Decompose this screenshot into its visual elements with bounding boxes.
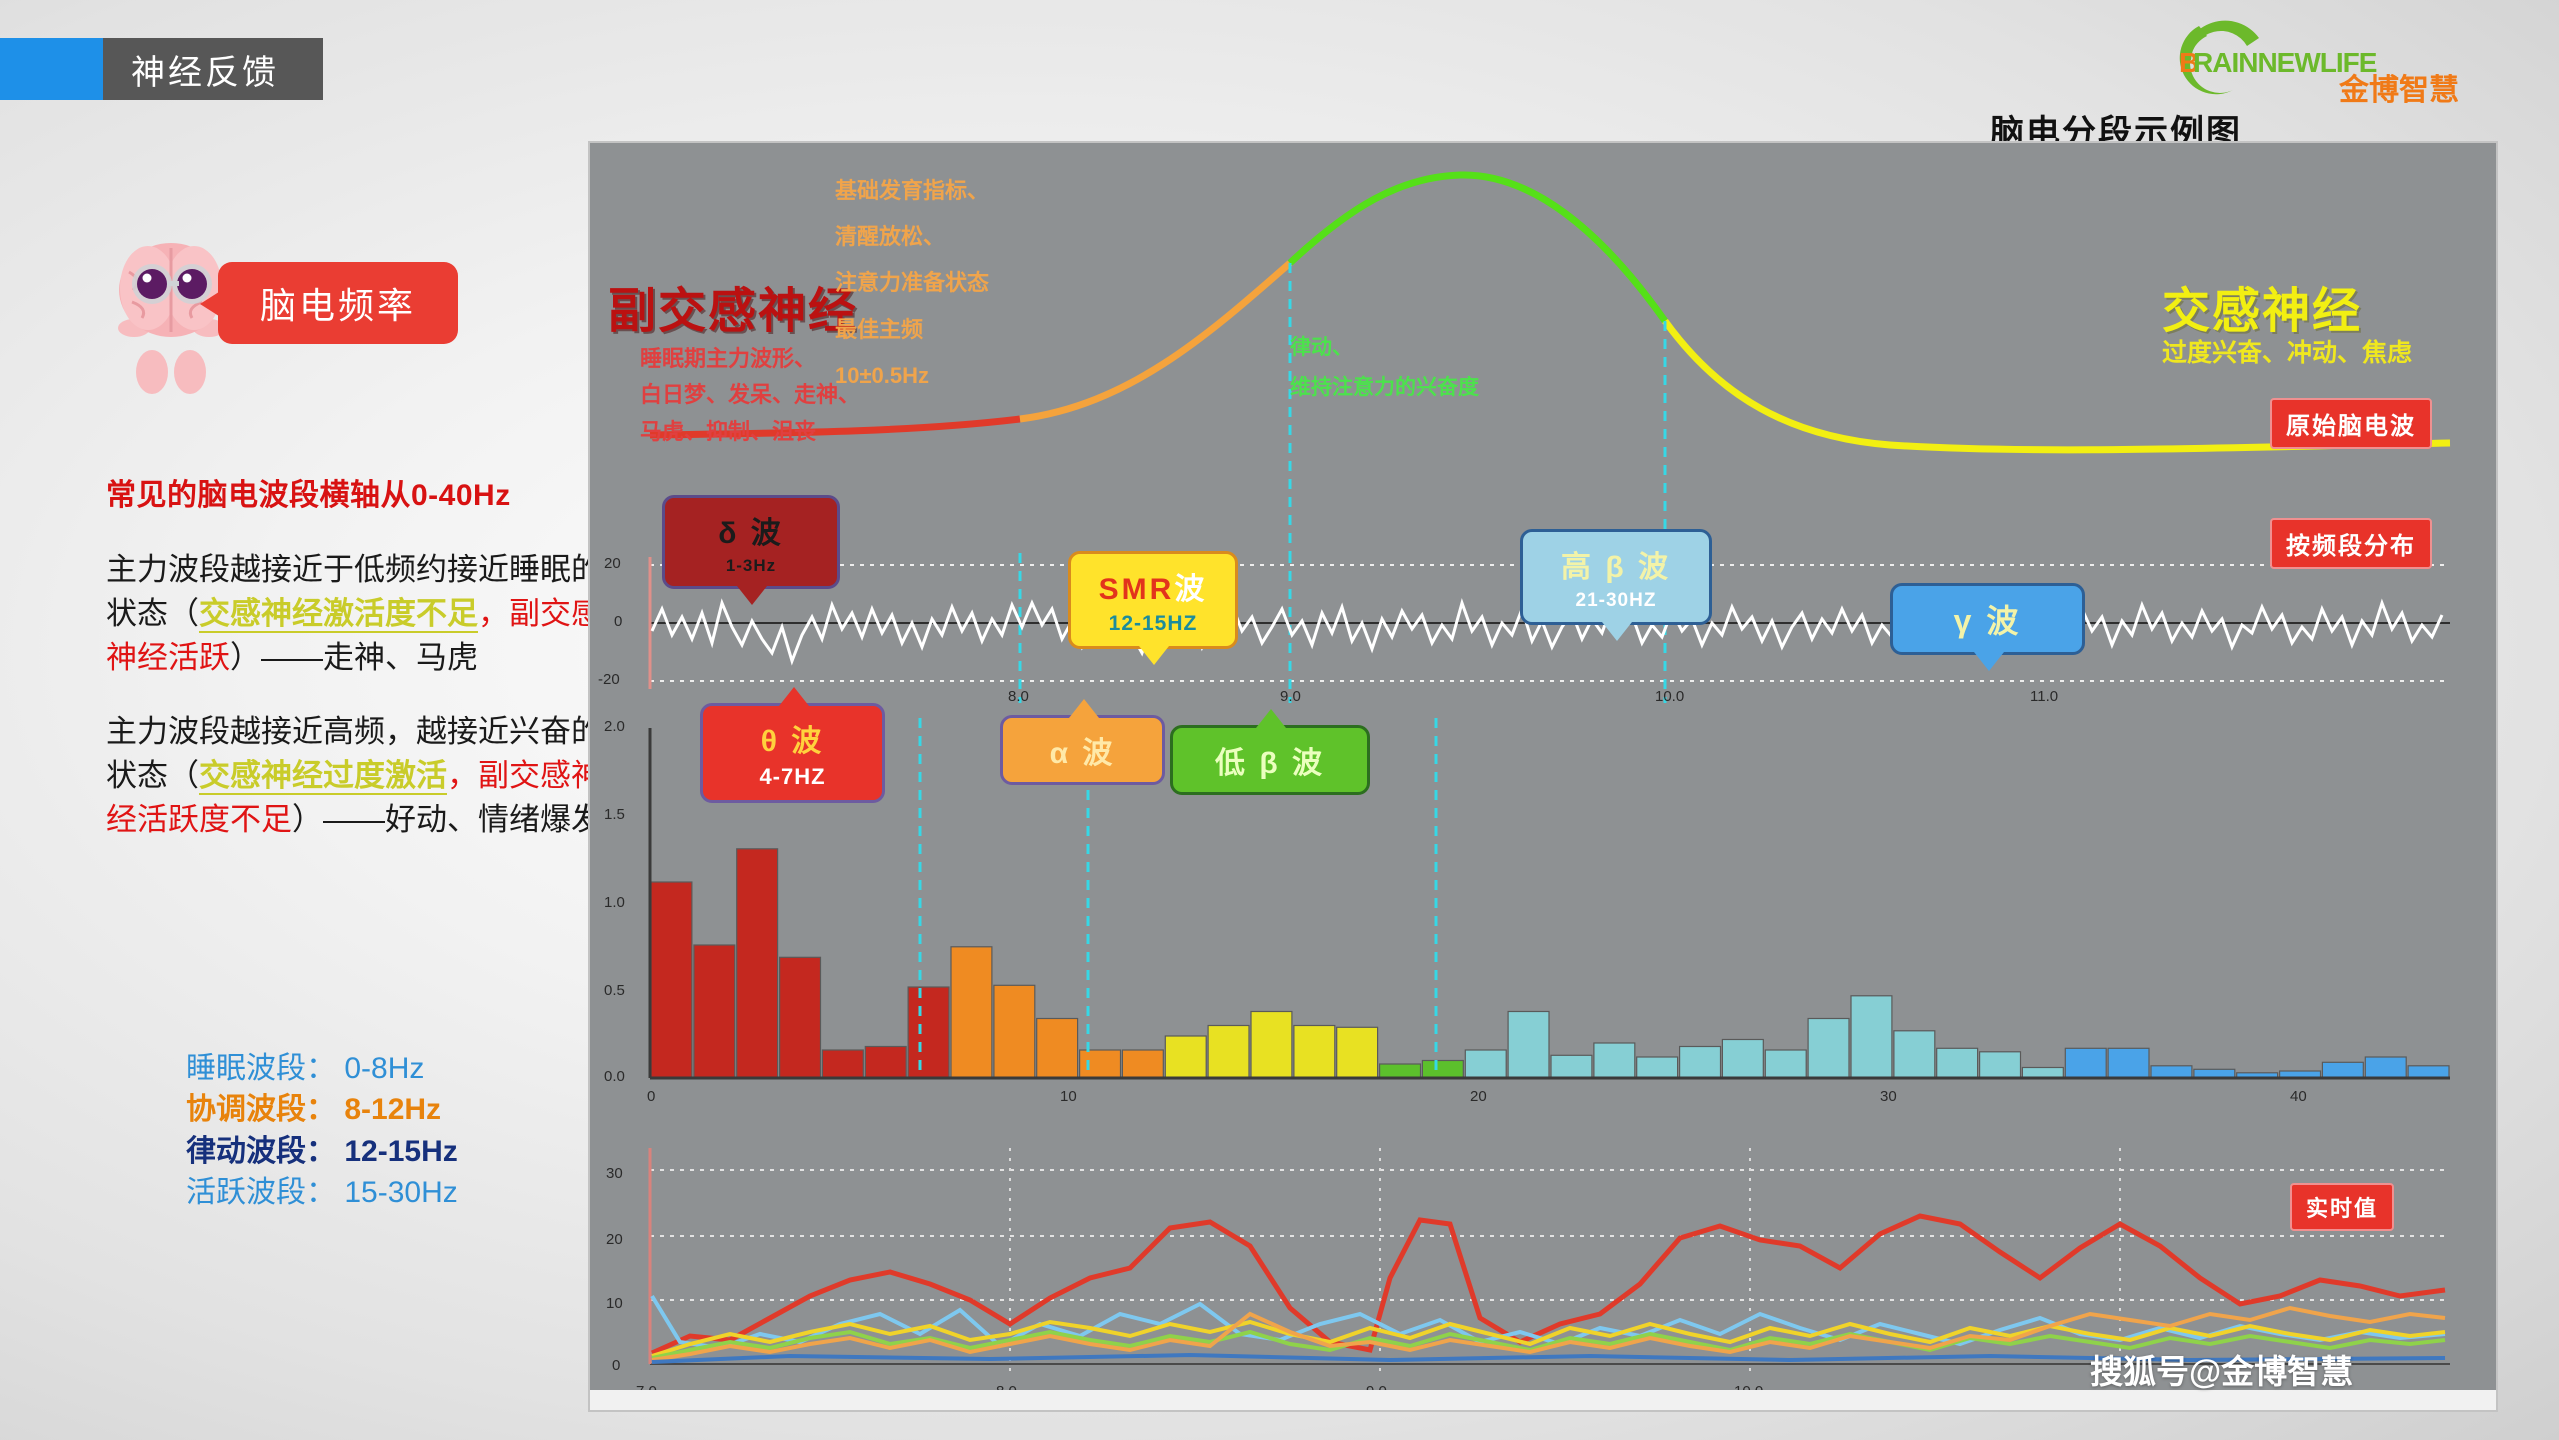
bar	[1422, 1061, 1463, 1079]
bar	[1465, 1050, 1506, 1078]
optimal-line-2: 清醒放松、	[835, 214, 989, 260]
callout-smr: SMR波 12-15HZ	[1068, 551, 1238, 649]
callout-low-beta-tail	[1256, 709, 1286, 728]
paragraph-high-frequency: 主力波段越接近高频，越接近兴奋的状态（交感神经过度激活，副交感神经活跃度不足）—…	[106, 710, 626, 842]
raw-eeg-xtick-11: 11.0	[2030, 688, 2058, 705]
callout-high-beta-tail	[1602, 622, 1632, 641]
annotation-sympathetic-sub: 过度兴奋、冲动、焦虑	[2162, 333, 2412, 369]
bar-xtick-0: 0	[647, 1088, 655, 1105]
bar	[2322, 1062, 2363, 1078]
band-list: 睡眠波段： 0-8Hz 协调波段： 8-12Hz 律动波段： 12-15Hz 活…	[186, 1048, 458, 1214]
paragraph-low-frequency: 主力波段越接近于低频约接近睡眠的状态（交感神经激活度不足，副交感神经活跃）——走…	[106, 548, 626, 680]
raw-eeg-ytick-20: 20	[604, 555, 621, 572]
raw-eeg-xtick-8: 8.0	[1008, 688, 1029, 705]
bar	[994, 985, 1035, 1078]
panel-bottom-strip	[590, 1390, 2496, 1410]
bar	[1637, 1057, 1678, 1078]
para1-comma: ，	[478, 596, 509, 631]
bar	[1380, 1064, 1421, 1078]
band-label-sleep: 睡眠波段：	[186, 1052, 336, 1085]
callout-alpha-tail	[1069, 699, 1099, 718]
annotation-parasympathetic-sub: 睡眠期主力波形、 白日梦、发呆、走神、 马虎、抑制、沮丧	[640, 341, 860, 450]
band-range-sleep: 0-8Hz	[344, 1052, 424, 1085]
bar-xtick-10: 10	[1060, 1088, 1077, 1105]
rt-ytick-10: 10	[606, 1295, 623, 1312]
callout-theta: θ 波 4-7HZ	[700, 703, 885, 803]
bar	[1122, 1050, 1163, 1078]
rhythm-line-1: 律动、	[1290, 328, 1479, 368]
bar-xtick-30: 30	[1880, 1088, 1897, 1105]
bar	[1551, 1055, 1592, 1078]
raw-eeg-xtick-9: 9.0	[1280, 688, 1301, 705]
band-label-active: 活跃波段：	[186, 1176, 336, 1209]
annotation-parasympathetic: 副交感神经	[608, 271, 858, 341]
bar	[694, 945, 735, 1078]
bar-xtick-40: 40	[2290, 1088, 2307, 1105]
bar	[1251, 1012, 1292, 1079]
header-title-block: 神经反馈	[103, 38, 323, 100]
tag-live-value: 实时值	[2290, 1183, 2394, 1231]
band-label-harmony: 协调波段：	[186, 1093, 336, 1126]
annotation-optimal-sub: 基础发育指标、 清醒放松、 注意力准备状态 最佳主频 10±0.5Hz	[835, 168, 989, 399]
para1-part2: ）——走神、马虎	[230, 640, 478, 675]
optimal-line-4: 最佳主频	[835, 307, 989, 353]
callout-gamma: γ 波	[1890, 583, 2085, 655]
band-row-active: 活跃波段： 15-30Hz	[186, 1172, 458, 1213]
callout-delta-tail	[737, 586, 767, 605]
bar	[1294, 1026, 1335, 1079]
callout-theta-range: 4-7HZ	[717, 764, 868, 790]
callout-theta-tail	[779, 687, 809, 706]
callout-smr-title-b: 波	[1174, 573, 1207, 606]
bar	[780, 957, 821, 1078]
bar-ytick-15: 1.5	[604, 806, 625, 823]
callout-theta-title: θ 波	[717, 716, 868, 760]
callout-high-beta: 高 β 波 21-30HZ	[1520, 529, 1712, 625]
header-accent-block	[0, 38, 103, 100]
bar-ytick-2: 2.0	[604, 718, 625, 735]
bar	[1080, 1050, 1121, 1078]
callout-smr-title-a: SMR	[1099, 573, 1175, 606]
para2-highlight-yellow: 交感神经过度激活	[199, 758, 447, 795]
bar	[1808, 1019, 1849, 1079]
callout-high-beta-title: 高 β 波	[1537, 542, 1695, 586]
bar	[1037, 1019, 1078, 1079]
para-sub-line-1: 睡眠期主力波形、	[640, 341, 860, 377]
callout-low-beta: 低 β 波	[1170, 725, 1370, 795]
callout-delta: δ 波 1-3Hz	[662, 495, 840, 589]
bar	[2408, 1066, 2449, 1078]
bar	[2065, 1048, 2106, 1078]
bar-ytick-1: 1.0	[604, 894, 625, 911]
para2-comma: ，	[447, 758, 478, 793]
band-row-harmony: 协调波段： 8-12Hz	[186, 1089, 458, 1130]
bar	[1165, 1036, 1206, 1078]
optimal-line-5: 10±0.5Hz	[835, 353, 989, 399]
bar	[1508, 1012, 1549, 1079]
bar	[951, 947, 992, 1078]
callout-gamma-title: γ 波	[1907, 596, 2068, 642]
speech-bubble: 脑电频率	[218, 262, 458, 344]
bar	[1337, 1027, 1378, 1078]
rhythm-line-2: 维持注意力的兴奋度	[1290, 368, 1479, 408]
annotation-sympathetic: 交感神经	[2162, 271, 2362, 341]
watermark: 搜狐号@金博智慧	[2090, 1345, 2353, 1393]
bar	[2365, 1057, 2406, 1078]
callout-delta-range: 1-3Hz	[679, 556, 823, 576]
bar-xtick-20: 20	[1470, 1088, 1487, 1105]
band-row-sleep: 睡眠波段： 0-8Hz	[186, 1048, 458, 1089]
raw-eeg-xtick-10: 10.0	[1655, 688, 1684, 705]
bar	[908, 987, 949, 1078]
callout-smr-title: SMR波	[1085, 564, 1221, 608]
bar	[2022, 1068, 2063, 1079]
callout-low-beta-title: 低 β 波	[1187, 738, 1353, 782]
para1-highlight-yellow: 交感神经激活度不足	[199, 596, 478, 633]
bar	[1594, 1043, 1635, 1078]
bar	[1980, 1052, 2021, 1078]
optimal-line-3: 注意力准备状态	[835, 260, 989, 306]
para-sub-line-2: 白日梦、发呆、走神、	[640, 377, 860, 413]
bar	[1208, 1026, 1249, 1079]
callout-high-beta-range: 21-30HZ	[1537, 590, 1695, 612]
para-sub-line-3: 马虎、抑制、沮丧	[640, 414, 860, 450]
tag-by-band: 按频段分布	[2270, 518, 2432, 569]
rt-ytick-20: 20	[606, 1231, 623, 1248]
bar	[822, 1050, 863, 1078]
band-label-rhythm: 律动波段：	[186, 1135, 336, 1168]
optimal-line-1: 基础发育指标、	[835, 168, 989, 214]
eeg-example-chart-panel: 副交感神经 交感神经 过度兴奋、冲动、焦虑 睡眠期主力波形、 白日梦、发呆、走神…	[588, 141, 2498, 1412]
band-row-rhythm: 律动波段： 12-15Hz	[186, 1131, 458, 1172]
callout-alpha: α 波	[1000, 715, 1165, 785]
raw-eeg-ytick-neg20: -20	[598, 671, 620, 688]
brand-logo: B RAINNEWLIFE 金博智慧	[2161, 14, 2531, 106]
tag-raw-eeg: 原始脑电波	[2270, 398, 2432, 449]
bar	[1722, 1040, 1763, 1079]
page-title: 神经反馈	[131, 45, 279, 94]
bar	[2151, 1066, 2192, 1078]
bar	[1937, 1048, 1978, 1078]
lead-line: 常见的脑电波段横轴从0-40Hz	[106, 470, 626, 514]
left-text-block: 常见的脑电波段横轴从0-40Hz 主力波段越接近于低频约接近睡眠的状态（交感神经…	[106, 470, 626, 872]
bar	[651, 882, 692, 1078]
callout-alpha-title: α 波	[1017, 728, 1148, 772]
callout-delta-title: δ 波	[679, 508, 823, 552]
bar-ytick-0: 0.0	[604, 1068, 625, 1085]
callout-smr-range: 12-15HZ	[1085, 612, 1221, 636]
bar	[1680, 1047, 1721, 1079]
band-range-active: 15-30Hz	[344, 1176, 457, 1209]
bar	[1894, 1031, 1935, 1078]
bar	[737, 849, 778, 1078]
rt-ytick-0: 0	[612, 1357, 620, 1374]
bar-ytick-05: 0.5	[604, 982, 625, 999]
para2-part2: ）——好动、情绪爆发	[292, 802, 602, 837]
header-bar: 神经反馈	[0, 38, 323, 100]
band-range-rhythm: 12-15Hz	[344, 1135, 457, 1168]
bar	[1851, 996, 1892, 1078]
callout-gamma-tail	[1974, 652, 2004, 671]
bar	[2108, 1048, 2149, 1078]
speech-bubble-label: 脑电频率	[260, 277, 416, 329]
annotation-rhythm-sub: 律动、 维持注意力的兴奋度	[1290, 328, 1479, 408]
band-range-harmony: 8-12Hz	[344, 1093, 441, 1126]
svg-text:金博智慧: 金博智慧	[2338, 73, 2459, 106]
bar	[1765, 1050, 1806, 1078]
raw-eeg-ytick-0: 0	[614, 613, 622, 630]
rt-ytick-30: 30	[606, 1165, 623, 1182]
callout-smr-tail	[1139, 646, 1169, 665]
bar	[865, 1047, 906, 1079]
